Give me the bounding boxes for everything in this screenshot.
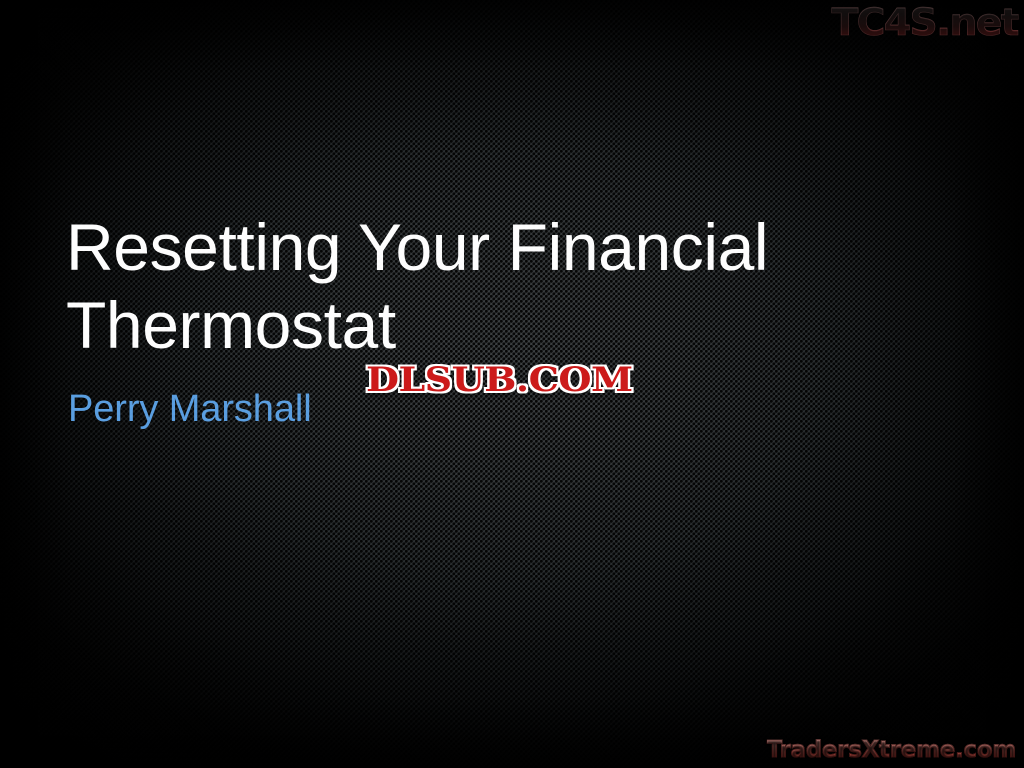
slide-subtitle-author: Perry Marshall (68, 386, 312, 432)
watermark-tc4s: TC4S.net (831, 2, 1018, 44)
presentation-slide: Resetting Your Financial Thermostat Perr… (0, 0, 1024, 768)
watermark-dlsub: DLSUB.COM (366, 360, 633, 400)
watermark-tradersxtreme: TradersXtreme.com (767, 737, 1016, 764)
slide-title: Resetting Your Financial Thermostat (66, 208, 876, 364)
